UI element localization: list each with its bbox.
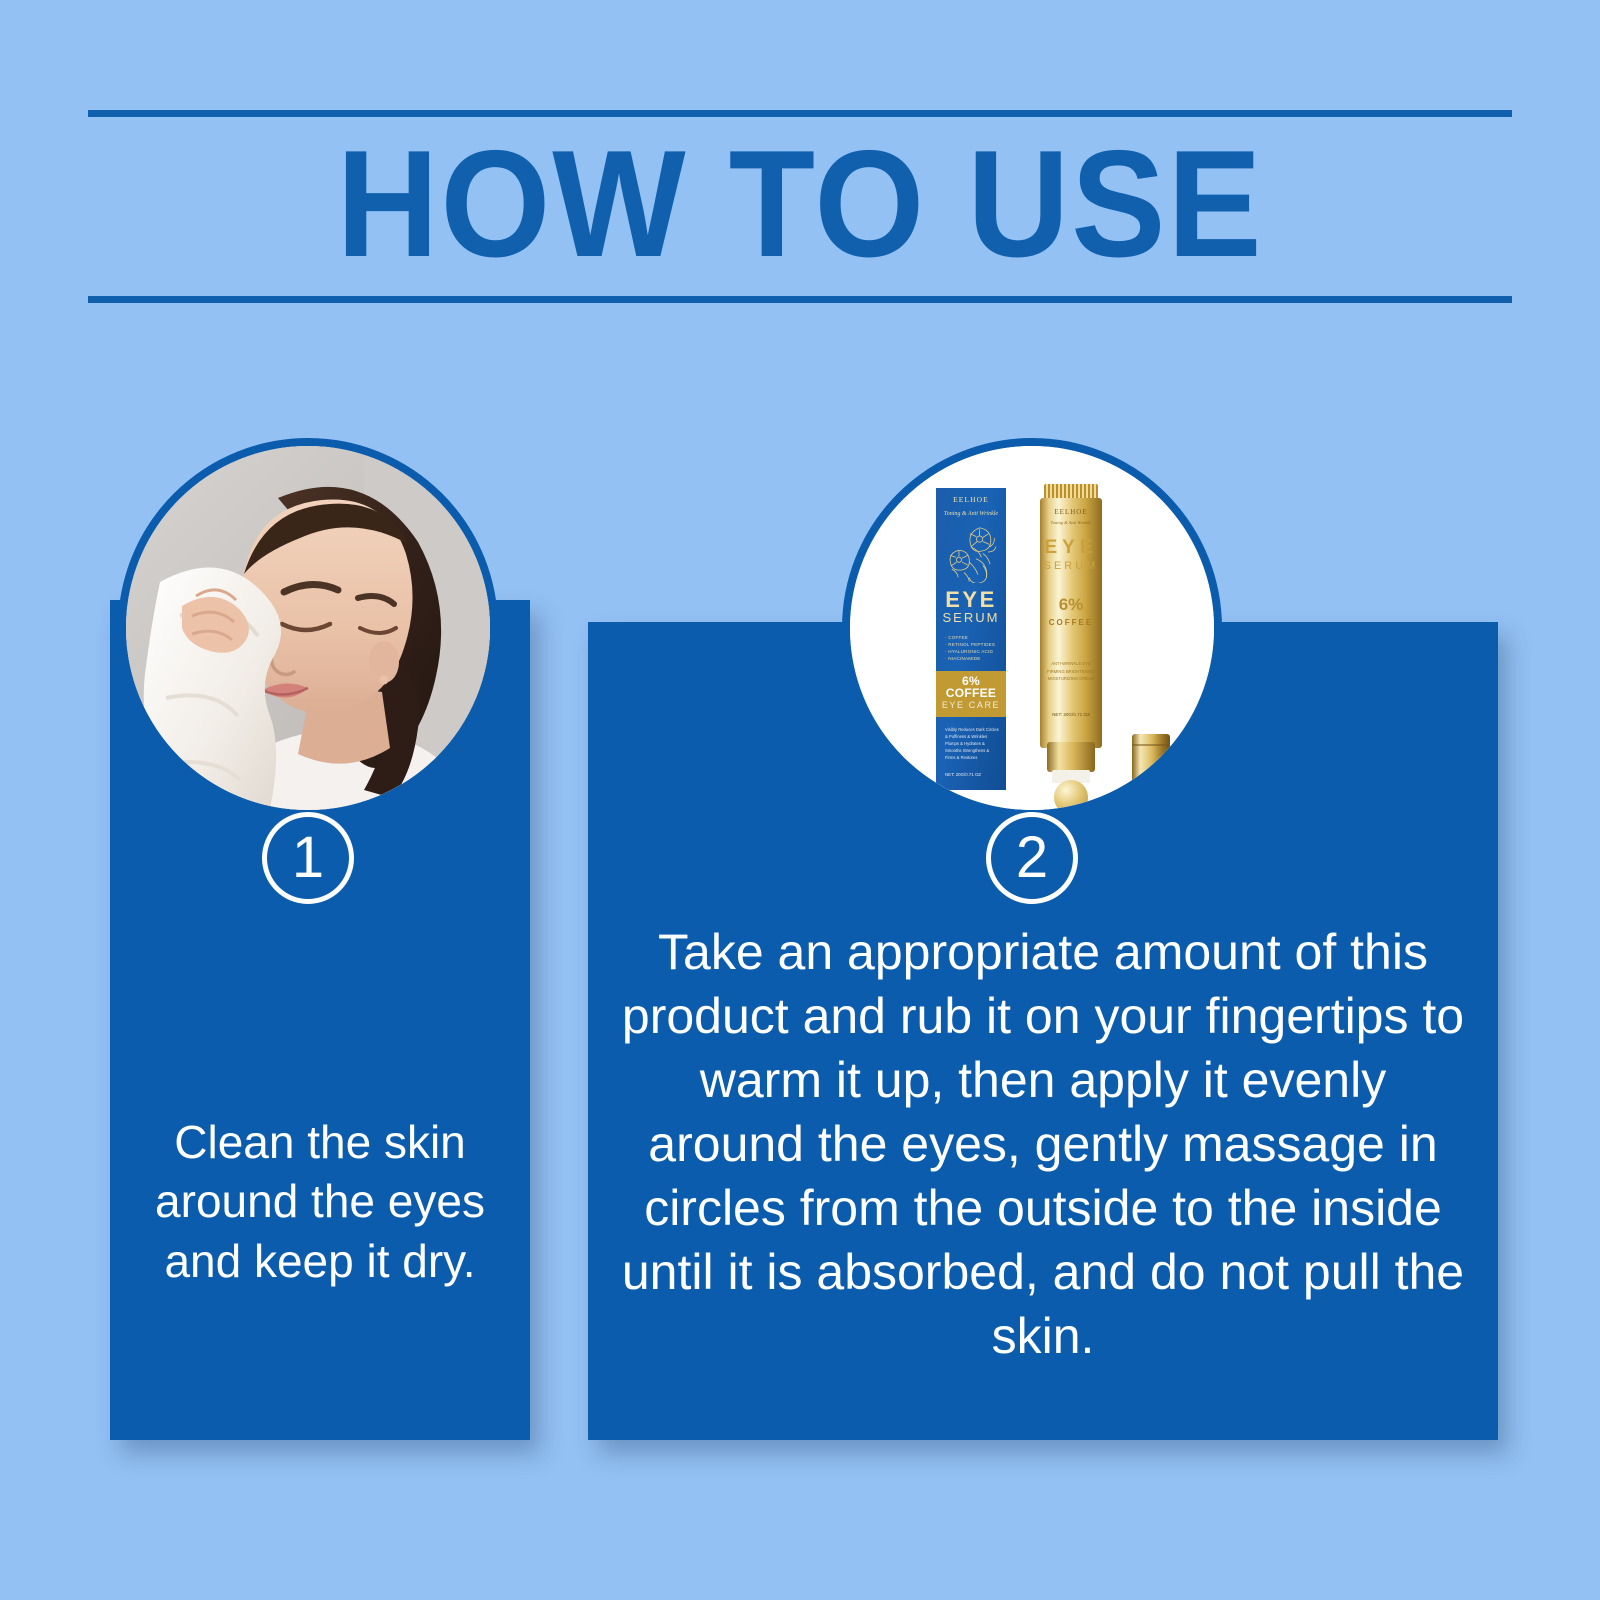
- tube-product-name: EYE: [1040, 538, 1102, 557]
- page-title: HOW TO USE: [138, 123, 1462, 292]
- tube-tagline: Toning & Anti Wrinkle: [1040, 520, 1102, 525]
- carton-ingredients: · COFFEE · RETINOL PEPTIDES · HYALURONIC…: [936, 634, 995, 662]
- step-1-image: [118, 438, 498, 818]
- tube-brand: EELHOE: [1040, 508, 1102, 516]
- carton-claim-band: 6% COFFEE EYE CARE: [936, 671, 1006, 717]
- step-2-text: Take an appropriate amount of this produ…: [588, 920, 1498, 1368]
- carton-description: Visibly Reduces Dark Circles & Puffiness…: [936, 726, 999, 762]
- tube-coffee-label: COFFEE: [1040, 618, 1102, 627]
- step-1-number-badge: 1: [262, 812, 354, 904]
- floral-face-line-art: [945, 521, 997, 583]
- step-2-number-badge: 2: [986, 812, 1078, 904]
- woman-drying-face-photo: [126, 446, 490, 810]
- carton-net-weight: NET: 20G/0.71 OZ: [936, 772, 981, 777]
- carton-tagline: Toning & Anti Wrinkle: [944, 511, 998, 517]
- tube-cap: [1132, 734, 1170, 812]
- carton-product-type: SERUM: [943, 611, 1000, 624]
- tube-percent-badge: 6%: [1040, 596, 1102, 613]
- page-header: HOW TO USE: [88, 110, 1512, 303]
- carton-claim-primary: 6% COFFEE: [936, 675, 1006, 699]
- title-rule-bottom: [88, 296, 1512, 303]
- product-tube: EELHOE Toning & Anti Wrinkle EYE SERUM 6…: [1040, 484, 1102, 804]
- step-2-image: EELHOE Toning & Anti Wrinkle EYE: [842, 438, 1222, 818]
- tube-collar: [1047, 742, 1095, 772]
- tube-applicator-ball: [1054, 780, 1088, 814]
- title-rule-top: [88, 110, 1512, 117]
- carton-claim-secondary: EYE CARE: [936, 699, 1006, 712]
- step-1-text: Clean the skin around the eyes and keep …: [110, 1113, 530, 1292]
- carton-product-name: EYE: [945, 590, 997, 611]
- tube-net-weight: NET: 20G/0.71 OZ: [1040, 712, 1102, 717]
- carton-brand: EELHOE: [953, 495, 989, 504]
- tube-product-type: SERUM: [1040, 560, 1102, 572]
- product-carton: EELHOE Toning & Anti Wrinkle EYE: [936, 488, 1006, 790]
- product-photo: EELHOE Toning & Anti Wrinkle EYE: [850, 446, 1214, 810]
- tube-fine-print: ANTI-WRINKLE EYE FIRMING BRIGHTENING MOI…: [1040, 660, 1102, 683]
